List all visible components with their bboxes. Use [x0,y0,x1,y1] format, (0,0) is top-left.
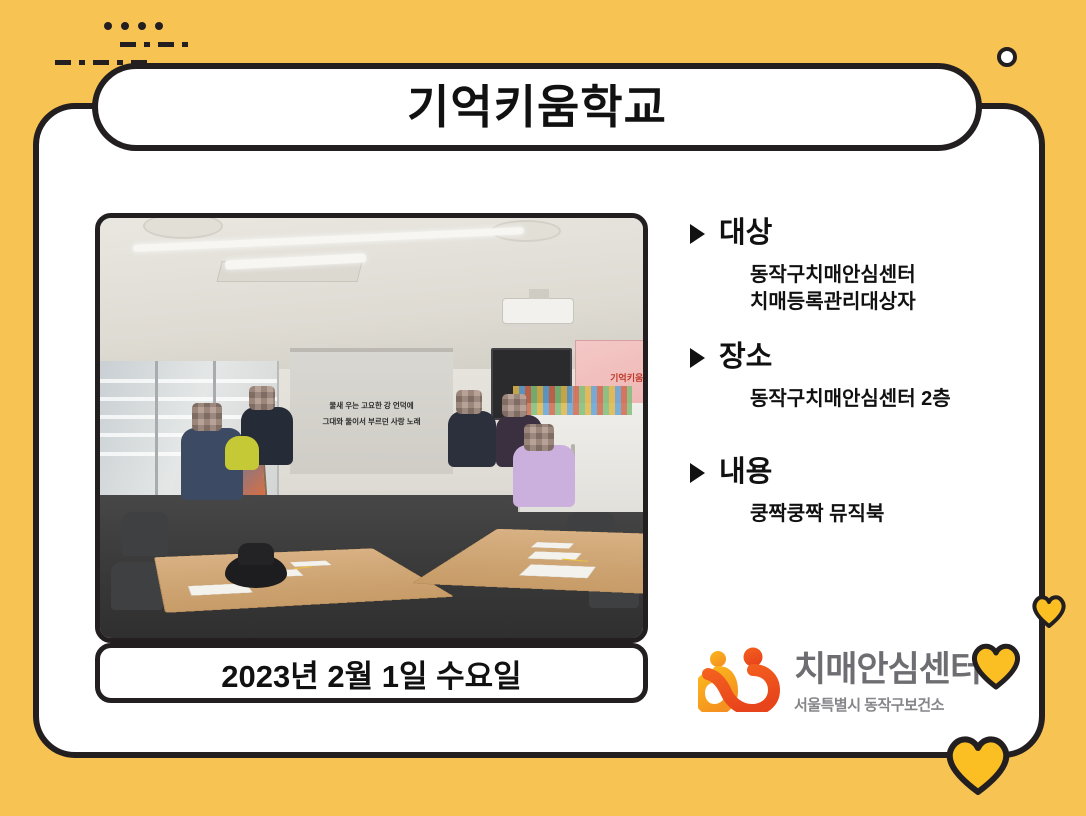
participant-face-blurred [524,424,554,451]
info-heading-content: 내용 [690,457,1020,489]
date-text: 2023년 2월 1일 수요일 [221,651,521,696]
logo-title: 치매안심센터 [794,652,981,687]
decor-dots [104,22,163,30]
heart-icon-small [1030,592,1068,628]
worksheet [518,564,596,578]
decor-dot [121,22,129,30]
screen-lyric-line-1: 물새 우는 고요한 강 언덕에 [329,400,413,411]
info-block-content: 내용 쿵짝쿵짝 뮤직북 [690,457,1020,528]
wall-banner-text: 기억키움 [610,371,643,384]
title-banner: 기억키움학교 [92,63,982,151]
participant-scarf [225,436,259,470]
logo-subtitle: 서울특별시 동작구보건소 [794,694,981,715]
poster-canvas: 기억키움학교 [0,0,1086,816]
participant [448,411,496,467]
organization-logo: 치매안심센터 서울특별시 동작구보건소 [698,646,981,715]
worksheet [530,542,574,549]
triangle-marker-icon [690,463,705,483]
info-heading-location: 장소 [690,342,1020,374]
decor-dot [104,22,112,30]
info-block-target: 대상 동작구치매안심센터 치매등록관리대상자 [690,218,1020,316]
page-title: 기억키움학교 [407,84,667,130]
projection-screen: 물새 우는 고요한 강 언덕에 그대와 둘이서 부르던 사랑 노래 [290,348,453,474]
date-caption: 2023년 2월 1일 수요일 [95,643,648,703]
decor-dot [155,22,163,30]
info-body-content: 쿵짝쿵짝 뮤직북 [690,501,1020,528]
info-heading-label: 내용 [719,457,772,489]
window-blind [100,379,277,383]
chair [122,512,168,556]
pencil [561,559,589,562]
participant [513,445,575,507]
info-column: 대상 동작구치매안심센터 치매등록관리대상자 장소 동작구치매안심센터 2층 내… [690,218,1020,538]
projector [502,298,574,324]
info-heading-target: 대상 [690,218,1020,250]
dementia-center-logo-icon [698,646,782,712]
participant-face-blurred [456,390,482,414]
participant-face-blurred [502,394,527,417]
info-body-target: 동작구치매안심센터 치매등록관리대상자 [690,262,1020,316]
info-body-location: 동작구치매안심센터 2층 [690,386,1020,413]
black-hat [225,554,287,588]
chair [111,562,163,610]
decor-dot [138,22,146,30]
triangle-marker-icon [690,348,705,368]
participant-face-blurred [192,403,222,431]
photo-scene: 물새 우는 고요한 강 언덕에 그대와 둘이서 부르던 사랑 노래 기억키움 [100,218,643,638]
window-mullion [155,361,158,512]
info-block-location: 장소 동작구치매안심센터 2층 [690,342,1020,413]
ceiling-spot [143,213,223,239]
info-heading-label: 대상 [719,218,772,250]
heart-icon-large [942,730,1014,796]
participant-face-blurred [249,386,275,410]
activity-photo: 물새 우는 고요한 강 언덕에 그대와 둘이서 부르던 사랑 노래 기억키움 [95,213,648,643]
decor-circle [997,47,1017,67]
decor-dash-line-upper [120,42,196,47]
info-heading-label: 장소 [719,342,772,374]
triangle-marker-icon [690,224,705,244]
shelf-decorations [513,386,632,415]
logo-wordmark: 치매안심센터 서울특별시 동작구보건소 [794,646,981,715]
heart-icon-medium [968,638,1024,690]
screen-lyric-line-2: 그대와 둘이서 부르던 사랑 노래 [322,416,420,427]
